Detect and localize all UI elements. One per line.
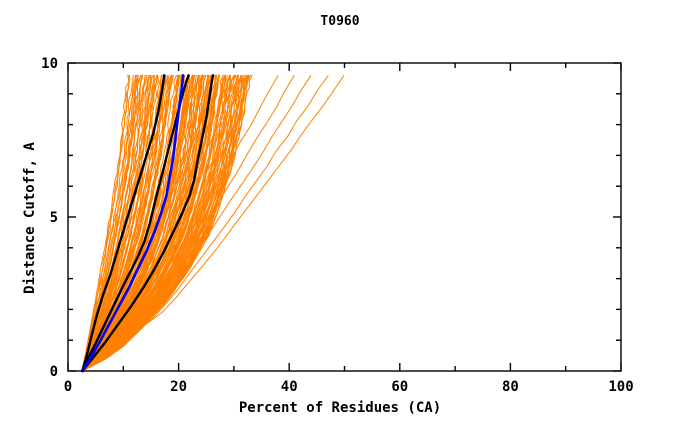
x-tick-label: 60 bbox=[391, 379, 408, 395]
x-tick-label: 40 bbox=[281, 379, 298, 395]
y-tick-label: 5 bbox=[50, 210, 58, 226]
chart-figure: T0960 Distance Cutoff, A Percent of Resi… bbox=[0, 0, 680, 440]
plot-area: 0204060801000510 bbox=[0, 0, 680, 440]
x-tick-label: 100 bbox=[608, 379, 633, 395]
y-tick-label: 10 bbox=[41, 56, 58, 72]
x-tick-label: 80 bbox=[502, 379, 519, 395]
x-tick-label: 20 bbox=[170, 379, 187, 395]
x-tick-label: 0 bbox=[64, 379, 72, 395]
y-tick-label: 0 bbox=[50, 364, 58, 380]
ensemble-curves bbox=[81, 75, 344, 371]
